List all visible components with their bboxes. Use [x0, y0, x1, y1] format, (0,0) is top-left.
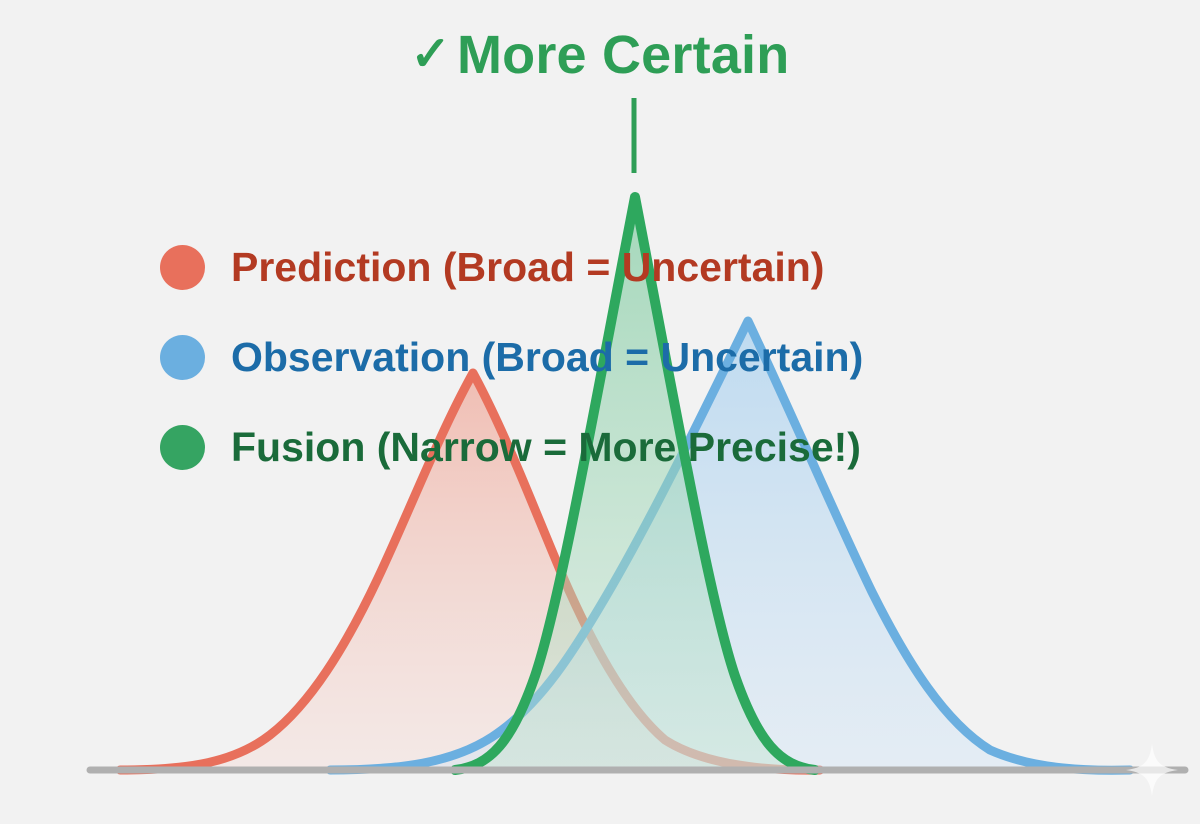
- legend-label-fusion: Fusion (Narrow = More Precise!): [231, 427, 861, 468]
- legend-dot-observation: [160, 335, 205, 380]
- legend-item-fusion[interactable]: Fusion (Narrow = More Precise!): [160, 402, 863, 492]
- legend-label-prediction: Prediction (Broad = Uncertain): [231, 247, 824, 288]
- chart-canvas: ✓More Certain Prediction (Broad = Uncert…: [0, 0, 1200, 824]
- legend-item-observation[interactable]: Observation (Broad = Uncertain): [160, 312, 863, 402]
- legend-dot-prediction: [160, 245, 205, 290]
- legend-item-prediction[interactable]: Prediction (Broad = Uncertain): [160, 222, 863, 312]
- legend-dot-fusion: [160, 425, 205, 470]
- chart-legend: Prediction (Broad = Uncertain) Observati…: [160, 222, 863, 492]
- legend-label-observation: Observation (Broad = Uncertain): [231, 337, 863, 378]
